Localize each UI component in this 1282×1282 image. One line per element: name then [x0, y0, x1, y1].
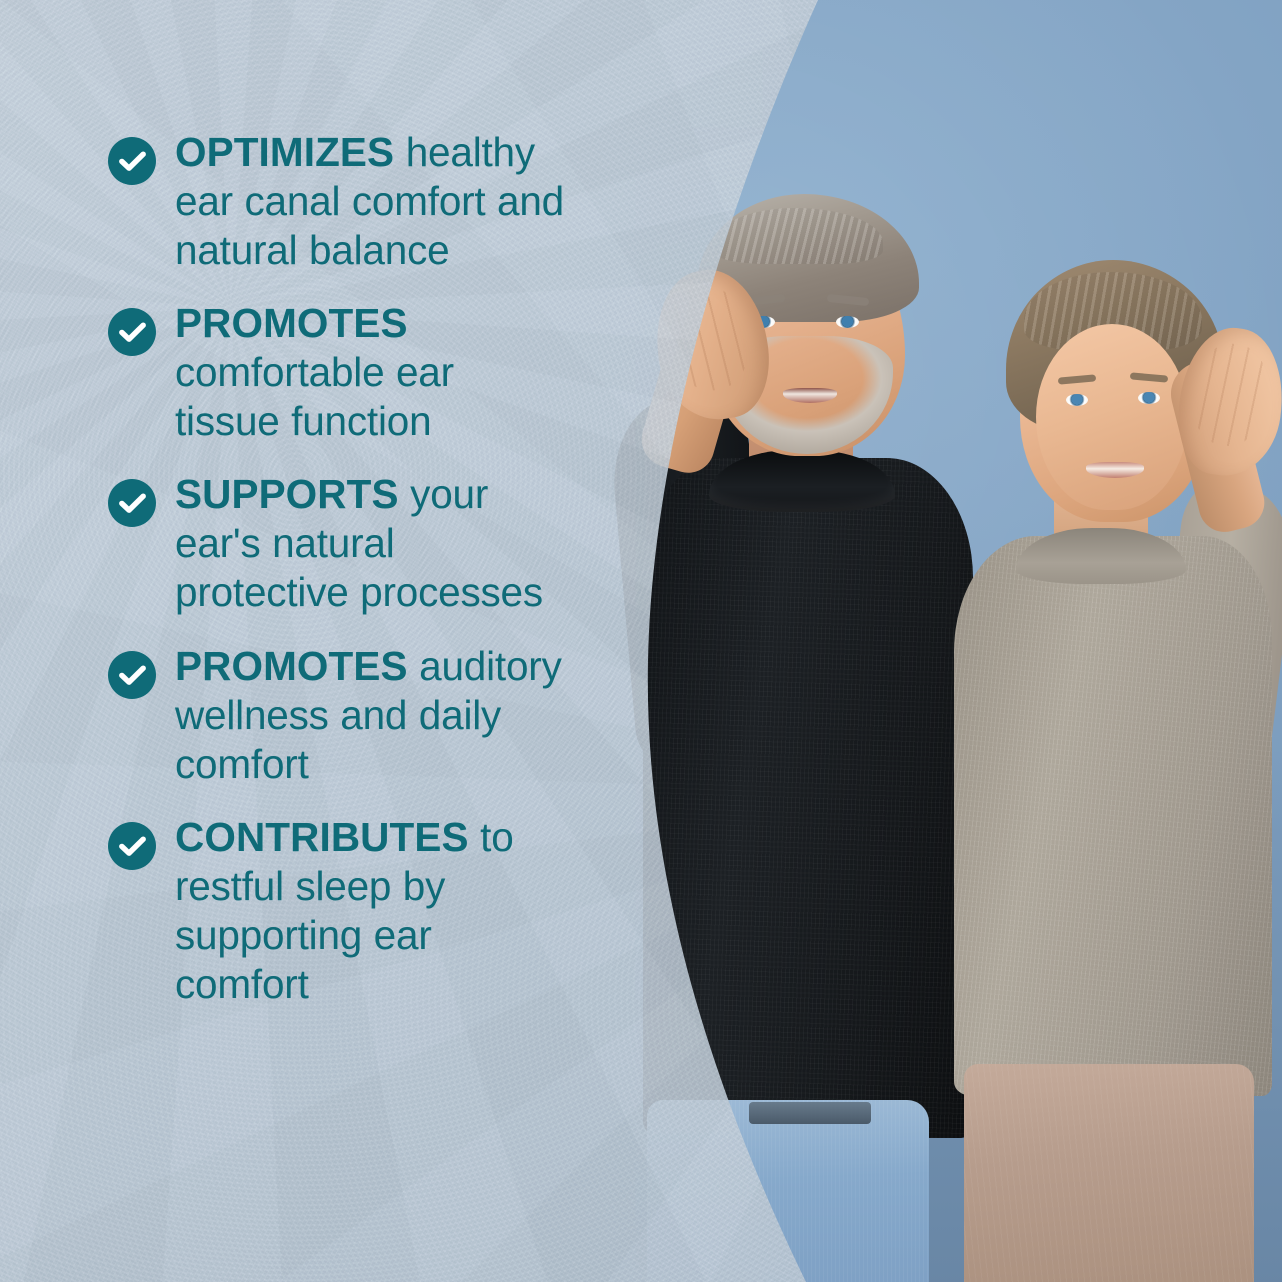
woman-face — [1036, 324, 1188, 510]
benefit-lead: PROMOTES — [175, 300, 408, 346]
benefit-text: SUPPORTS your ear's natural protective p… — [175, 470, 567, 617]
woman-trousers — [964, 1064, 1254, 1282]
benefit-text: PROMOTES comfortable ear tissue function — [175, 299, 567, 446]
man-belt — [749, 1102, 871, 1124]
person-woman — [930, 228, 1282, 1282]
benefit-item: OPTIMIZES healthy ear canal comfort and … — [108, 128, 668, 275]
check-circle-icon — [108, 479, 156, 527]
benefits-poster: OPTIMIZES healthy ear canal comfort and … — [0, 0, 1282, 1282]
woman-eye-left — [1066, 394, 1088, 406]
man-eye-right — [836, 316, 859, 328]
benefit-text: OPTIMIZES healthy ear canal comfort and … — [175, 128, 567, 275]
woman-eye-right — [1138, 392, 1160, 404]
check-circle-icon — [108, 651, 156, 699]
benefit-lead: OPTIMIZES — [175, 129, 394, 175]
benefit-lead: SUPPORTS — [175, 471, 399, 517]
check-circle-icon — [108, 822, 156, 870]
benefit-text: CONTRIBUTES to restful sleep by supporti… — [175, 813, 567, 1009]
benefit-item: PROMOTES auditory wellness and daily com… — [108, 642, 668, 789]
benefit-item: SUPPORTS your ear's natural protective p… — [108, 470, 668, 617]
check-circle-icon — [108, 308, 156, 356]
benefit-lead: CONTRIBUTES — [175, 814, 469, 860]
benefit-text: PROMOTES auditory wellness and daily com… — [175, 642, 567, 789]
benefits-list: OPTIMIZES healthy ear canal comfort and … — [108, 128, 668, 1009]
benefit-item: PROMOTES comfortable ear tissue function — [108, 299, 668, 446]
check-circle-icon — [108, 137, 156, 185]
benefit-lead: PROMOTES — [175, 643, 408, 689]
benefit-item: CONTRIBUTES to restful sleep by supporti… — [108, 813, 668, 1009]
woman-sweater — [954, 536, 1272, 1096]
benefit-rest: comfortable ear tissue function — [175, 349, 454, 444]
